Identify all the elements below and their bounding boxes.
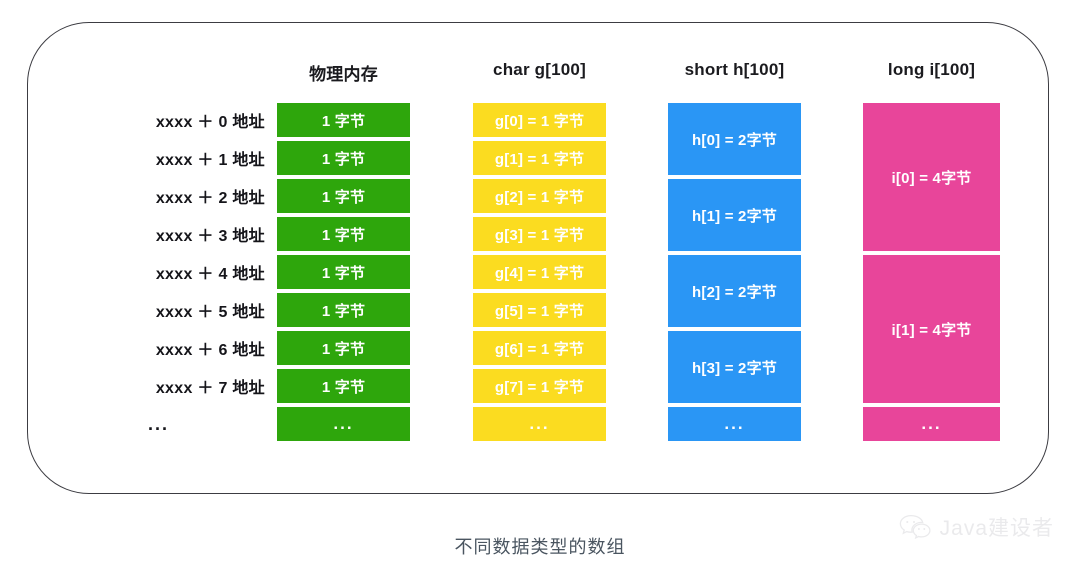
watermark: Java建设者 <box>899 512 1054 542</box>
char-cell: g[4] = 1 字节 <box>473 255 606 289</box>
char-array-column: g[0] = 1 字节 g[1] = 1 字节 g[2] = 1 字节 g[3]… <box>473 103 606 445</box>
address-label: xxxx ＋ 4 地址 <box>100 255 265 289</box>
long-array-column: i[0] = 4字节 i[1] = 4字节 ... <box>863 103 1000 445</box>
memory-cell: 1 字节 <box>277 179 410 213</box>
short-cell: h[0] = 2字节 <box>668 103 801 175</box>
address-label: xxxx ＋ 0 地址 <box>100 103 265 137</box>
watermark-text: Java建设者 <box>940 512 1054 542</box>
address-label-ellipsis: ... <box>100 407 265 441</box>
memory-cell-ellipsis: ... <box>277 407 410 441</box>
wechat-icon <box>899 514 931 540</box>
column-header-long-array: long i[100] <box>863 60 1000 80</box>
address-label: xxxx ＋ 1 地址 <box>100 141 265 175</box>
column-header-char-array: char g[100] <box>473 60 606 80</box>
char-cell: g[1] = 1 字节 <box>473 141 606 175</box>
long-cell: i[1] = 4字节 <box>863 255 1000 403</box>
address-label: xxxx ＋ 7 地址 <box>100 369 265 403</box>
char-cell: g[0] = 1 字节 <box>473 103 606 137</box>
char-cell: g[3] = 1 字节 <box>473 217 606 251</box>
char-cell: g[6] = 1 字节 <box>473 331 606 365</box>
column-header-short-array: short h[100] <box>668 60 801 80</box>
address-label: xxxx ＋ 6 地址 <box>100 331 265 365</box>
memory-cell: 1 字节 <box>277 141 410 175</box>
memory-cell: 1 字节 <box>277 255 410 289</box>
char-cell: g[5] = 1 字节 <box>473 293 606 327</box>
address-label-column: xxxx ＋ 0 地址 xxxx ＋ 1 地址 xxxx ＋ 2 地址 xxxx… <box>100 103 265 445</box>
short-cell: h[1] = 2字节 <box>668 179 801 251</box>
address-label: xxxx ＋ 3 地址 <box>100 217 265 251</box>
long-cell-ellipsis: ... <box>863 407 1000 441</box>
short-cell: h[2] = 2字节 <box>668 255 801 327</box>
short-cell: h[3] = 2字节 <box>668 331 801 403</box>
address-label: xxxx ＋ 5 地址 <box>100 293 265 327</box>
column-header-physical-memory: 物理内存 <box>277 60 410 85</box>
short-cell-ellipsis: ... <box>668 407 801 441</box>
short-array-column: h[0] = 2字节 h[1] = 2字节 h[2] = 2字节 h[3] = … <box>668 103 801 445</box>
long-cell: i[0] = 4字节 <box>863 103 1000 251</box>
char-cell: g[7] = 1 字节 <box>473 369 606 403</box>
physical-memory-column: 1 字节 1 字节 1 字节 1 字节 1 字节 1 字节 1 字节 1 字节 … <box>277 103 410 445</box>
char-cell-ellipsis: ... <box>473 407 606 441</box>
char-cell: g[2] = 1 字节 <box>473 179 606 213</box>
address-label: xxxx ＋ 2 地址 <box>100 179 265 213</box>
memory-cell: 1 字节 <box>277 369 410 403</box>
memory-cell: 1 字节 <box>277 293 410 327</box>
memory-cell: 1 字节 <box>277 217 410 251</box>
memory-cell: 1 字节 <box>277 103 410 137</box>
memory-cell: 1 字节 <box>277 331 410 365</box>
